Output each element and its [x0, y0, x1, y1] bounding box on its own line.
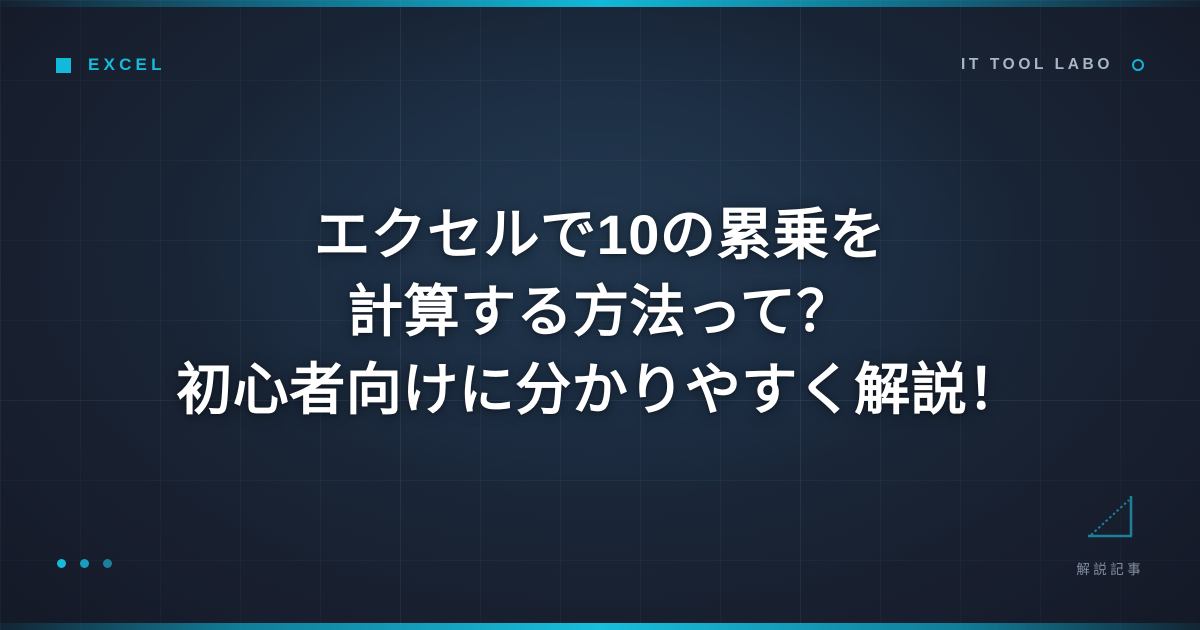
title-line-1: エクセルで10の累乗を	[314, 196, 886, 273]
dot-2-icon	[80, 559, 89, 568]
article-type-label: 解説記事	[1076, 558, 1144, 578]
chart-axis-icon	[1082, 492, 1138, 542]
title-line-2: 計算する方法って？	[347, 273, 853, 350]
article-type-badge: 解説記事	[1076, 492, 1144, 578]
thumbnail-canvas: EXCEL IT TOOL LABO エクセルで10の累乗を 計算する方法って？…	[0, 0, 1200, 630]
decorative-dots	[57, 559, 112, 568]
dot-3-icon	[103, 559, 112, 568]
title-line-3: 初心者向けに分かりやすく解説！	[176, 351, 1024, 428]
page-title: エクセルで10の累乗を 計算する方法って？ 初心者向けに分かりやすく解説！	[0, 0, 1200, 630]
dot-1-icon	[57, 559, 66, 568]
